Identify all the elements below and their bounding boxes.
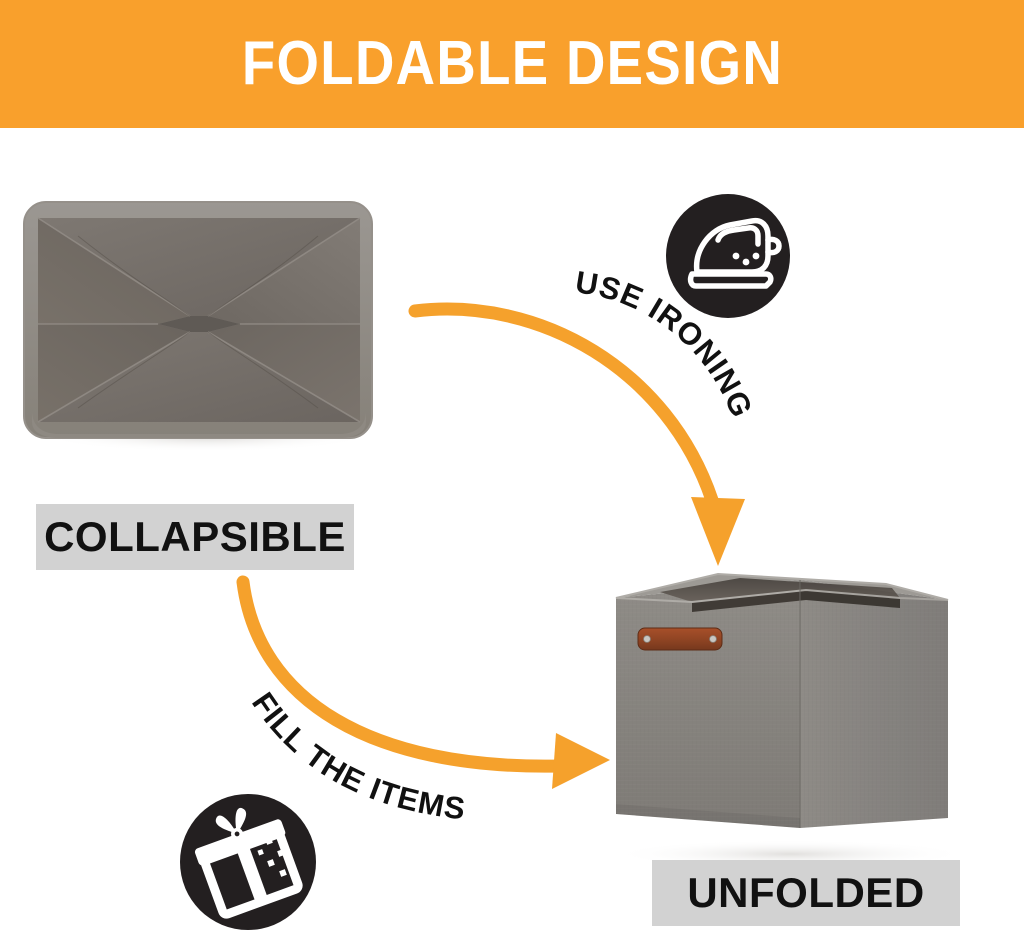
gift-box-icon <box>180 794 316 930</box>
unfolded-storage-bin-photo <box>600 568 1000 868</box>
caption-collapsible-label: COLLAPSIBLE <box>44 513 346 561</box>
iron-icon <box>666 194 790 318</box>
caption-unfolded-label: UNFOLDED <box>687 869 924 917</box>
infographic-root: FOLDABLE DESIGN <box>0 0 1024 941</box>
arrow-fill-the-items <box>243 582 610 789</box>
caption-unfolded: UNFOLDED <box>652 860 960 926</box>
caption-collapsible: COLLAPSIBLE <box>36 504 354 570</box>
badge-iron <box>666 194 790 318</box>
badge-gift <box>180 794 316 930</box>
folded-storage-bin-photo <box>18 196 380 450</box>
header-band: FOLDABLE DESIGN <box>0 0 1024 128</box>
arrowhead-down-icon <box>691 497 745 566</box>
page-title: FOLDABLE DESIGN <box>241 33 782 95</box>
arrow-use-ironing <box>415 309 745 566</box>
